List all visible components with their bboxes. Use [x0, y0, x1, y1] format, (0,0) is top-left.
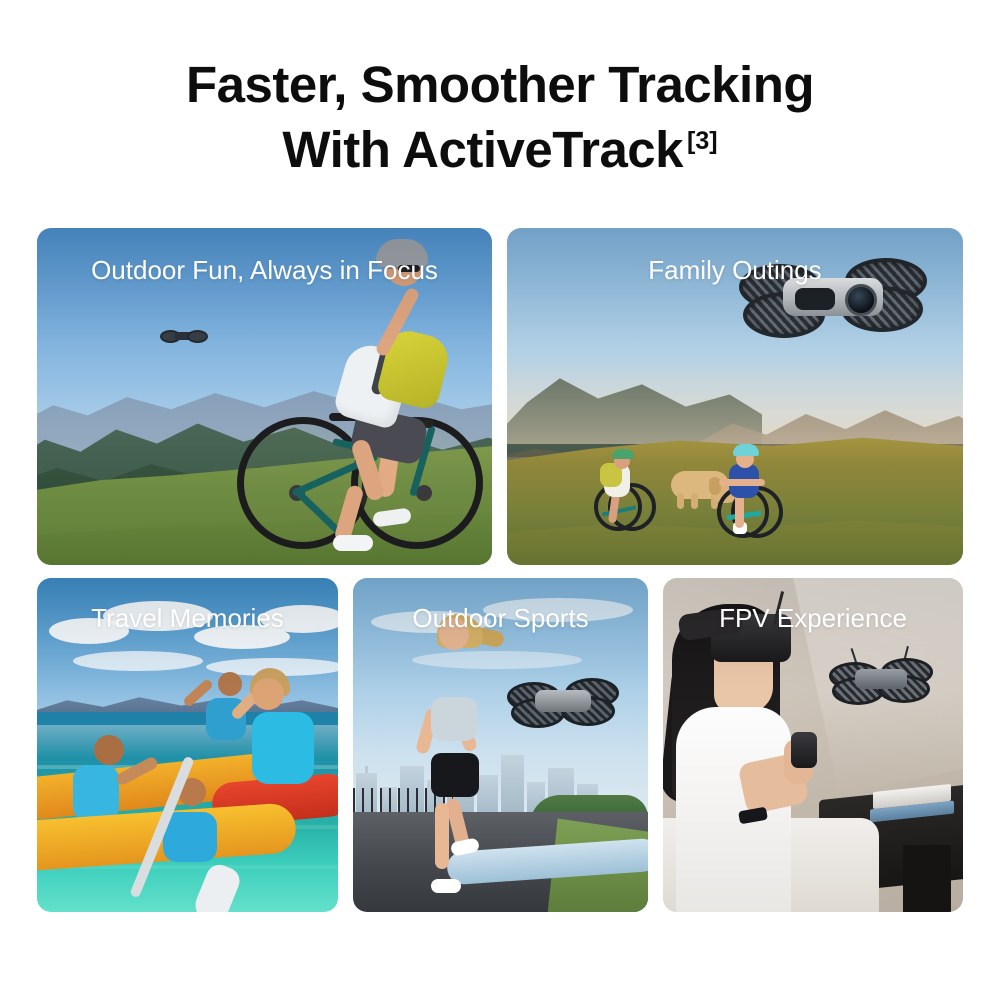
drone-icon	[739, 258, 927, 336]
headline-line-1: Faster, Smoother Tracking	[0, 56, 1000, 113]
adult-cyclist	[594, 383, 650, 531]
child-head	[94, 735, 124, 765]
headline-line-2-text: With ActiveTrack	[282, 121, 683, 178]
runner-shoe-front	[431, 879, 461, 893]
table-leg	[903, 845, 951, 912]
child-lifejacket	[73, 765, 119, 821]
drone-icon	[507, 678, 619, 724]
child-cyclist	[717, 363, 777, 538]
scene-fpv-indoor	[663, 578, 963, 912]
headline-line-2: With ActiveTrack[3]	[0, 113, 1000, 178]
drone-body	[535, 690, 591, 712]
dog-leg	[691, 493, 698, 509]
card-fpv-experience[interactable]: FPV Experience	[663, 578, 963, 912]
card-outdoor-fun[interactable]: Outdoor Fun, Always in Focus	[37, 228, 492, 565]
drone-camera-lens	[845, 284, 877, 316]
runner-sports-top	[431, 697, 477, 741]
card-outdoor-sports[interactable]: Outdoor Sports	[353, 578, 648, 912]
feature-card-grid: Outdoor Fun, Always in Focus	[37, 228, 963, 912]
scene-running-waterfront	[353, 578, 648, 912]
sky	[37, 578, 338, 712]
rider-shoe-near	[333, 535, 373, 551]
woman-lifejacket	[252, 712, 314, 784]
drone-body	[855, 669, 907, 689]
helmet	[733, 444, 759, 456]
helmet	[612, 449, 634, 459]
scene-cyclist-ridge	[37, 228, 492, 565]
dog-leg	[677, 493, 684, 509]
sunglasses	[398, 265, 420, 272]
woman-figure	[669, 591, 843, 912]
footnote-superscript: [3]	[687, 127, 718, 155]
card-family-outings[interactable]: Family Outings	[507, 228, 963, 565]
paddler-torso-front	[163, 812, 217, 862]
runner-leg-front	[435, 803, 449, 869]
card-row-top: Outdoor Fun, Always in Focus	[37, 228, 963, 565]
cyclist-figure	[237, 245, 478, 555]
drone-vent	[795, 288, 835, 310]
scene-kayaking	[37, 578, 338, 912]
scene-family-ridge	[507, 228, 963, 565]
paddler-head-rear	[218, 672, 242, 696]
child-leg	[735, 494, 744, 528]
cloud	[483, 598, 633, 622]
cloud	[260, 605, 338, 633]
runner-figure	[412, 618, 501, 899]
motion-controller	[791, 732, 817, 767]
child-arms	[719, 479, 765, 486]
card-travel-memories[interactable]: Travel Memories	[37, 578, 338, 912]
page-title: Faster, Smoother Tracking With ActiveTra…	[0, 56, 1000, 178]
drone-rotor-right	[187, 330, 208, 343]
drone-icon	[160, 329, 208, 343]
promo-page: Faster, Smoother Tracking With ActiveTra…	[0, 0, 1000, 1000]
runner-head	[439, 618, 469, 650]
card-row-bottom: Travel Memories	[37, 578, 963, 912]
woman-head	[252, 678, 284, 710]
drone-icon	[829, 658, 933, 702]
runner-shorts	[431, 753, 479, 797]
